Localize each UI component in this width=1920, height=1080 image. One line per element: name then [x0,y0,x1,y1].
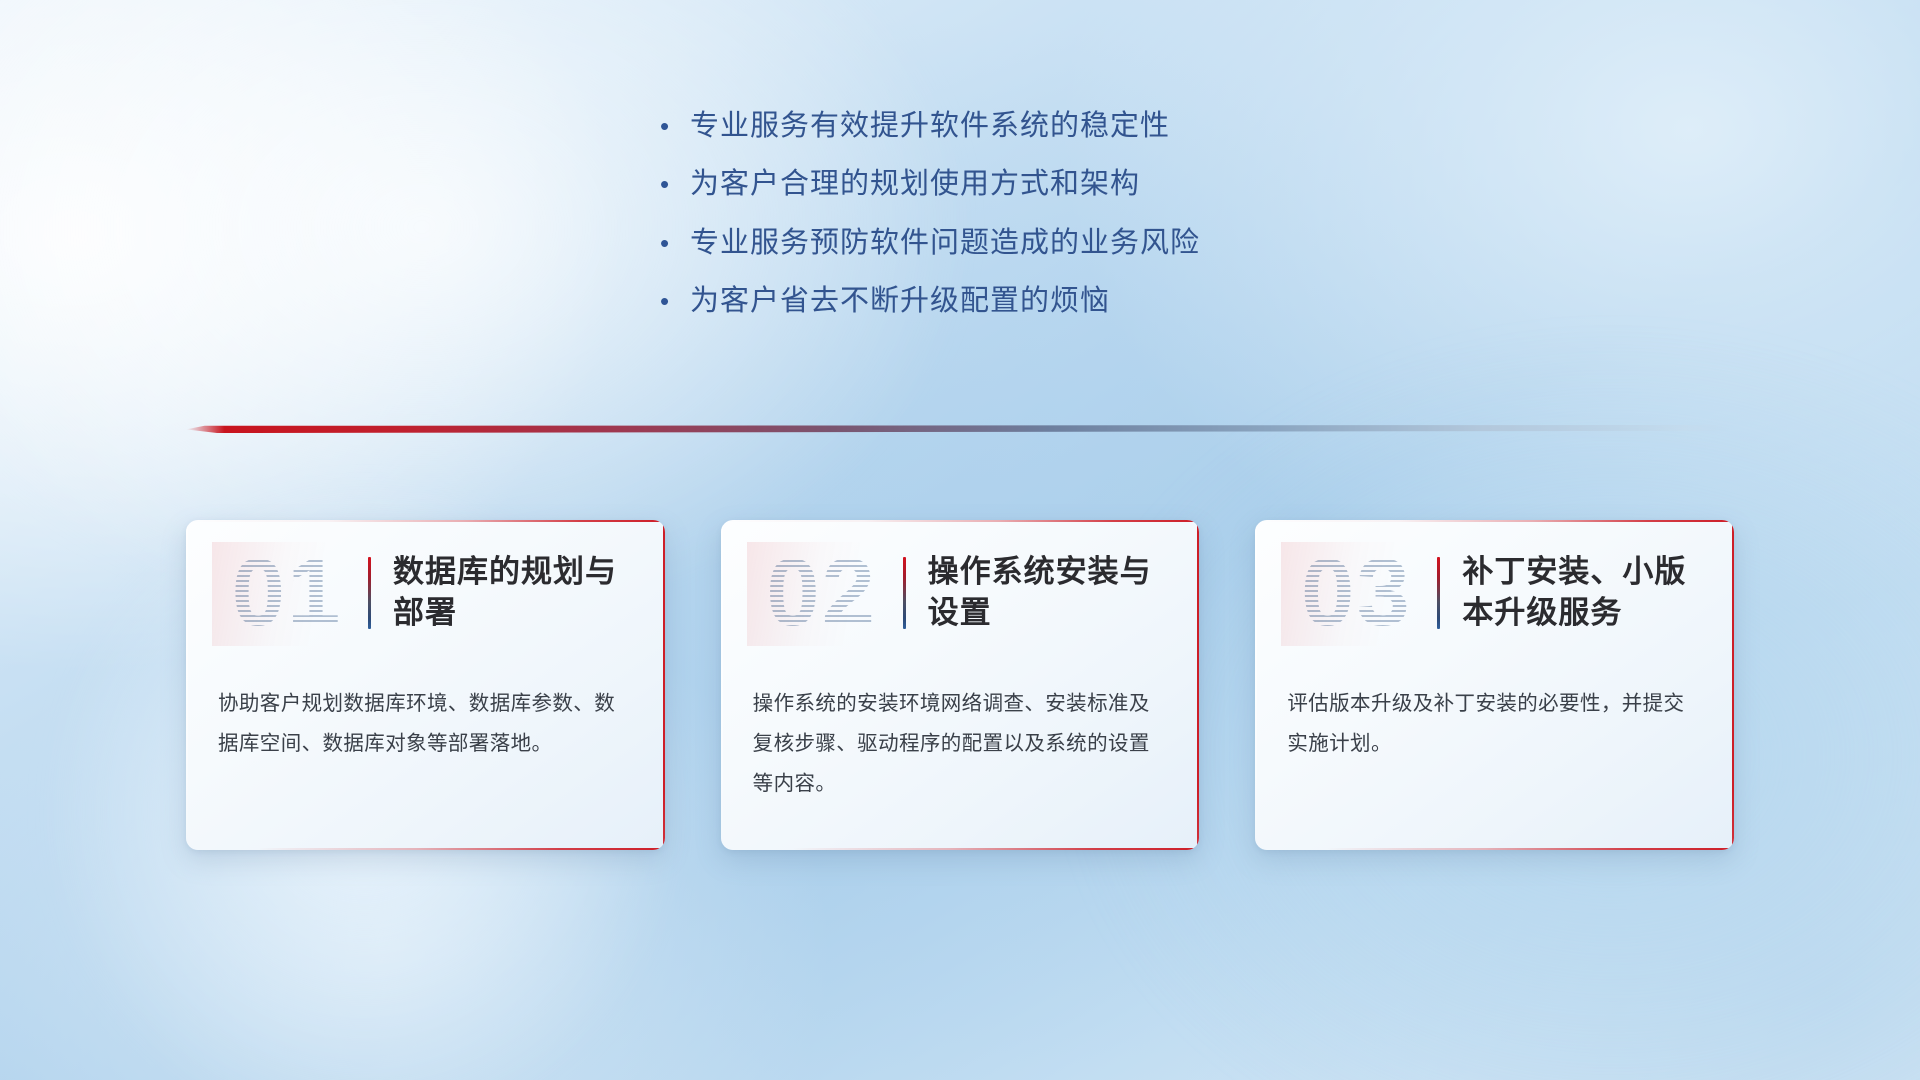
card-title-divider [368,557,371,629]
service-card[interactable]: 01 数据库的规划与部署 协助客户规划数据库环境、数据库参数、数据库空间、数据库… [186,520,665,850]
bullet-dot-icon: • [660,230,690,256]
card-title-divider [903,557,906,629]
card-number-watermark: 02 [747,545,897,641]
list-item: • 专业服务有效提升软件系统的稳定性 [660,108,1420,144]
service-card[interactable]: 03 补丁安装、小版本升级服务 评估版本升级及补丁安装的必要性，并提交实施计划。 [1255,520,1734,850]
card-title: 补丁安装、小版本升级服务 [1462,552,1704,634]
bullet-dot-icon: • [660,171,690,197]
bullet-text: 为客户合理的规划使用方式和架构 [690,166,1140,202]
card-header: 03 补丁安装、小版本升级服务 [1255,520,1734,666]
bullet-text: 专业服务预防软件问题造成的业务风险 [690,225,1200,261]
bullet-text: 为客户省去不断升级配置的烦恼 [690,283,1110,319]
card-header: 01 数据库的规划与部署 [186,520,665,666]
card-description: 评估版本升级及补丁安装的必要性，并提交实施计划。 [1255,666,1734,764]
bullet-text: 专业服务有效提升软件系统的稳定性 [690,108,1170,144]
card-border-bottom [1255,848,1734,850]
list-item: • 专业服务预防软件问题造成的业务风险 [660,225,1420,261]
card-title-divider [1437,557,1440,629]
card-border-bottom [186,848,665,850]
card-border-bottom [721,848,1200,850]
benefits-bullet-list: • 专业服务有效提升软件系统的稳定性 • 为客户合理的规划使用方式和架构 • 专… [660,108,1420,341]
card-description: 协助客户规划数据库环境、数据库参数、数据库空间、数据库对象等部署落地。 [186,666,665,764]
list-item: • 为客户合理的规划使用方式和架构 [660,166,1420,202]
bullet-dot-icon: • [660,113,690,139]
card-number-watermark: 03 [1281,545,1431,641]
card-title: 操作系统安装与设置 [928,552,1170,634]
list-item: • 为客户省去不断升级配置的烦恼 [660,283,1420,319]
divider-gradient-bar [186,425,1731,433]
service-card-group: 01 数据库的规划与部署 协助客户规划数据库环境、数据库参数、数据库空间、数据库… [186,520,1734,850]
section-divider [186,425,1731,433]
service-card[interactable]: 02 操作系统安装与设置 操作系统的安装环境网络调查、安装标准及复核步骤、驱动程… [721,520,1200,850]
card-title: 数据库的规划与部署 [393,552,635,634]
card-header: 02 操作系统安装与设置 [721,520,1200,666]
card-number-watermark: 01 [212,545,362,641]
bullet-dot-icon: • [660,288,690,314]
card-description: 操作系统的安装环境网络调查、安装标准及复核步骤、驱动程序的配置以及系统的设置等内… [721,666,1200,804]
